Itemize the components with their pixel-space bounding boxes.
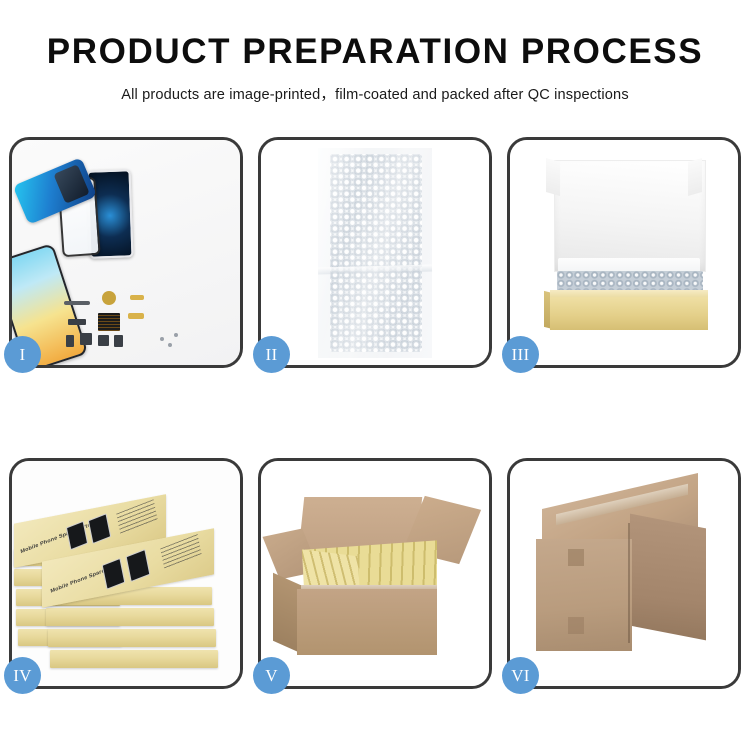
- sealed-carton-front-face: [536, 539, 632, 651]
- part-vibrator: [114, 335, 123, 347]
- part-speaker: [98, 335, 109, 346]
- carton-front-face: [297, 589, 437, 655]
- step-image-2: [261, 140, 489, 365]
- step-badge-1: I: [4, 336, 41, 373]
- step-badge-5: V: [253, 657, 290, 694]
- part-screw-2: [168, 343, 172, 347]
- part-screw-3: [174, 333, 178, 337]
- sealed-carton-corner-seam: [628, 523, 630, 643]
- bubble-wrap-pouch: [318, 148, 432, 358]
- inner-box-lid: [554, 160, 706, 272]
- sealed-carton-tab-upper: [568, 549, 584, 566]
- stacked-box-r4: [50, 650, 218, 668]
- stacked-box-r3: [48, 629, 216, 647]
- part-sim-tray: [66, 335, 74, 347]
- part-gold-disc: [102, 291, 116, 305]
- step-image-6: [510, 461, 738, 686]
- step-badge-3: III: [502, 336, 539, 373]
- step-panel-4-stacked-boxes[interactable]: Mobile Phone Spare Parts Mobile Phone Sp…: [9, 458, 243, 689]
- page-header: PRODUCT PREPARATION PROCESS All products…: [0, 0, 750, 104]
- step-badge-4: IV: [4, 657, 41, 694]
- inner-box-base-front: [550, 297, 708, 330]
- step-image-3: [510, 140, 738, 365]
- part-flex-cable-1: [130, 295, 144, 300]
- step-panel-2-bubble-wrap[interactable]: II: [258, 137, 492, 368]
- stacked-box-r2: [46, 608, 214, 626]
- step-panel-3-inner-box[interactable]: III: [507, 137, 741, 368]
- process-steps-grid: I II III: [9, 137, 741, 689]
- part-screw-1: [160, 337, 164, 341]
- page-subtitle: All products are image-printed，film-coat…: [0, 83, 750, 104]
- spare-parts-group: [64, 289, 194, 359]
- retail-box-stack: Mobile Phone Spare Parts Mobile Phone Sp…: [14, 487, 240, 673]
- inner-box-lid-flap-right: [688, 158, 702, 196]
- sealed-carton-tab-lower: [568, 617, 584, 634]
- step-image-5: [261, 461, 489, 686]
- part-chip-grid: [98, 313, 120, 331]
- step-panel-6-sealed-carton[interactable]: VI: [507, 458, 741, 689]
- step-badge-2: II: [253, 336, 290, 373]
- step-image-1: [12, 140, 240, 365]
- part-connector: [68, 319, 86, 325]
- sealed-carton-right-face: [630, 514, 706, 641]
- part-camera-module: [80, 333, 92, 345]
- step-image-4: Mobile Phone Spare Parts Mobile Phone Sp…: [12, 461, 240, 686]
- part-flex-strip: [64, 301, 90, 305]
- inner-box-lid-flap-left: [546, 158, 560, 196]
- page-title: PRODUCT PREPARATION PROCESS: [0, 34, 750, 71]
- step-panel-5-open-carton[interactable]: V: [258, 458, 492, 689]
- bubble-wrap-sheen: [318, 148, 432, 358]
- step-badge-6: VI: [502, 657, 539, 694]
- part-flex-cable-2: [128, 313, 144, 319]
- step-panel-1-phone-parts[interactable]: I: [9, 137, 243, 368]
